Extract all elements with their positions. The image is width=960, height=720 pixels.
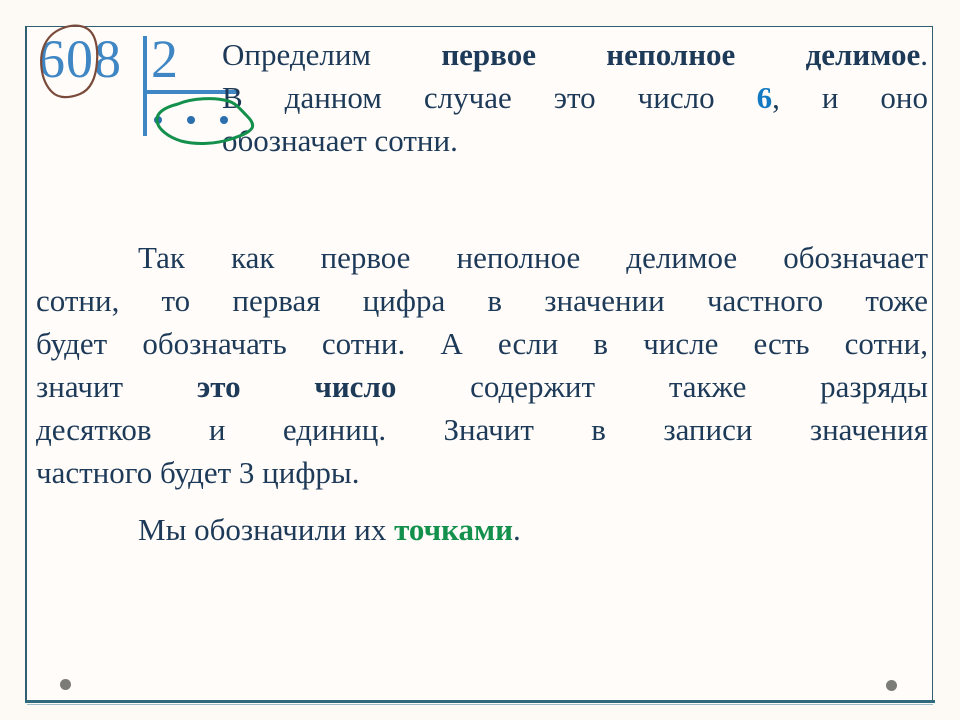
p2-bold-term: это число	[197, 369, 396, 404]
decorative-dot-left	[60, 679, 71, 690]
p2-line-3: будет обозначать сотни. А если в числе е…	[36, 322, 928, 365]
slide-frame-bottom-hairline	[27, 704, 933, 705]
p2-line-5: десятков и единиц. Значит в записи значе…	[36, 408, 928, 451]
p1-line2-a: В данном случае это число	[222, 80, 757, 115]
p1-line-2: В данном случае это число 6, и оно	[222, 76, 928, 119]
p2-line-6: частного будет 3 цифры.	[36, 451, 928, 494]
p2-line4-b: содержит также разряды	[396, 369, 928, 404]
division-vertical-bar	[143, 36, 147, 136]
p1-line-1: Определим первое неполное делимое.	[222, 33, 928, 76]
p1-text-b: .	[920, 37, 928, 72]
p2-line-4: значит это число содержит также разряды	[36, 365, 928, 408]
divisor-number: 2	[151, 32, 178, 86]
dividend-number: 608	[38, 32, 122, 86]
p2-line-1: Так как первое неполное делимое обознача…	[36, 236, 928, 279]
p1-bold-term: первое неполное делимое	[441, 37, 920, 72]
p3-text-b: .	[513, 512, 521, 547]
quotient-dot-1	[154, 116, 162, 124]
p1-line-3: обозначает сотни.	[222, 119, 928, 162]
paragraph-explanation: Так как первое неполное делимое обознача…	[36, 236, 928, 494]
decorative-dot-right	[886, 680, 897, 691]
p3-green-term: точками	[394, 512, 513, 547]
p1-line2-b: , и оно	[772, 80, 928, 115]
p1-text-a: Определим	[222, 37, 441, 72]
p2-line4-a: значит	[36, 369, 197, 404]
p1-highlight-number: 6	[757, 80, 773, 115]
p3-text-a: Мы обозначили их	[138, 512, 394, 547]
slide-frame-bottom-rule	[25, 700, 935, 703]
paragraph-first-incomplete-dividend: Определим первое неполное делимое. В дан…	[222, 33, 928, 162]
p2-line-2: сотни, то первая цифра в значении частно…	[36, 279, 928, 322]
slide: 608 2 Определим первое неполное делимое.…	[0, 0, 960, 720]
paragraph-dots-note: Мы обозначили их точками.	[36, 508, 928, 551]
quotient-dot-2	[187, 116, 195, 124]
